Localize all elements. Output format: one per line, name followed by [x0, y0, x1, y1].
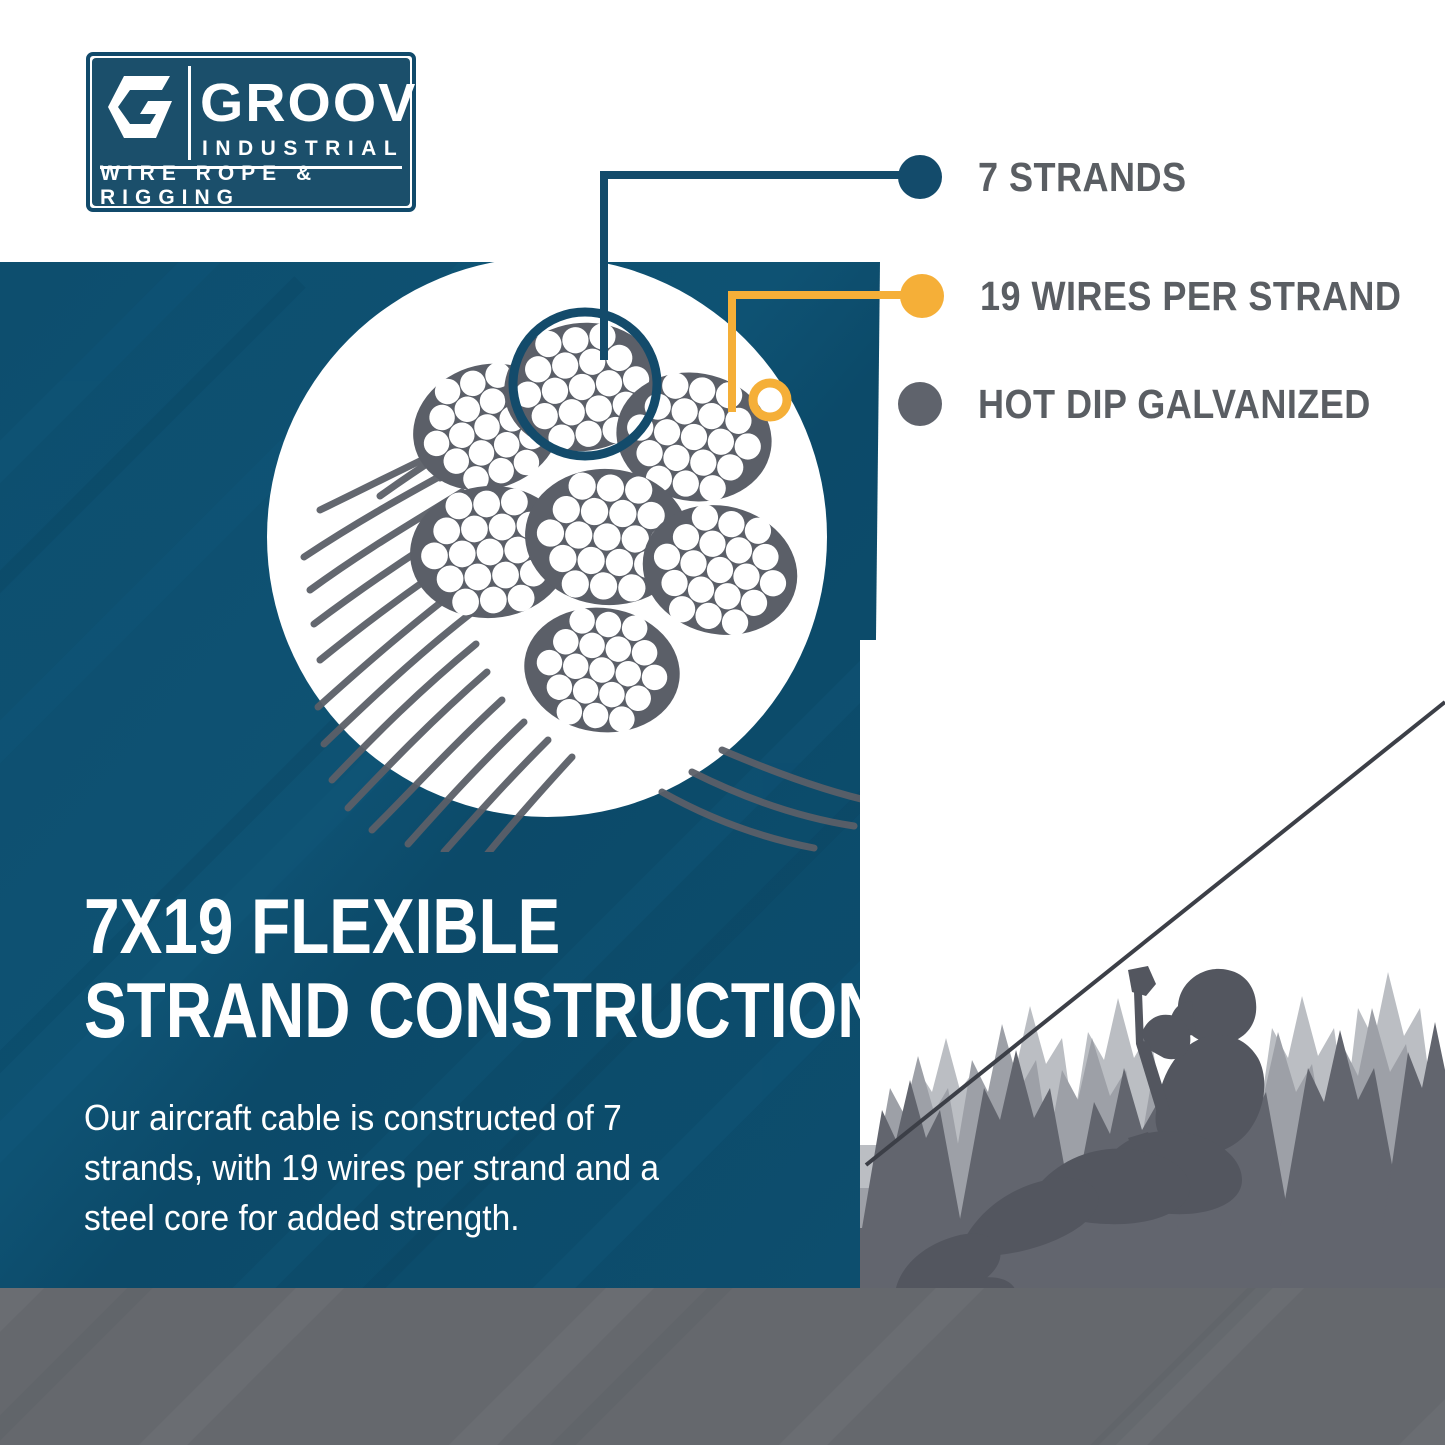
logo-wordmark: GROOVE: [200, 70, 408, 136]
footer-band: [0, 1288, 1445, 1445]
infographic-canvas: 7 STRANDS 19 WIRES PER STRAND HOT DIP GA…: [0, 0, 1445, 1445]
brand-logo: GROOVE INDUSTRIAL WIRE ROPE & RIGGING: [86, 52, 416, 212]
callout-dot-wires: [900, 274, 944, 318]
logo-inner-plate: GROOVE INDUSTRIAL WIRE ROPE & RIGGING: [92, 58, 410, 206]
headline-line-2: STRAND CONSTRUCTION: [84, 968, 707, 1052]
callout-strands: 7 STRANDS: [898, 155, 1215, 199]
logo-subwordmark: INDUSTRIAL: [202, 138, 402, 160]
body-copy: Our aircraft cable is constructed of 7 s…: [84, 1093, 735, 1243]
callout-label-wires: 19 WIRES PER STRAND: [980, 276, 1401, 317]
zipline-forest-illustration: [860, 640, 1445, 1300]
leader-line-wires: [732, 295, 925, 412]
callout-leader-lines: [580, 150, 940, 450]
page-headline: 7X19 FLEXIBLE STRAND CONSTRUCTION: [84, 884, 707, 1052]
callout-dot-strands: [898, 155, 942, 199]
callout-wires-per-strand: 19 WIRES PER STRAND: [900, 274, 1445, 318]
logo-tagline: WIRE ROPE & RIGGING: [100, 172, 402, 200]
callout-galvanized: HOT DIP GALVANIZED: [898, 382, 1424, 426]
callout-label-strands: 7 STRANDS: [978, 157, 1186, 198]
groove-g-monogram: [106, 74, 174, 140]
callout-label-galvanized: HOT DIP GALVANIZED: [978, 384, 1371, 425]
leader-line-strands: [604, 175, 925, 360]
callout-dot-galvanized: [898, 382, 942, 426]
headline-line-1: 7X19 FLEXIBLE: [84, 884, 707, 968]
